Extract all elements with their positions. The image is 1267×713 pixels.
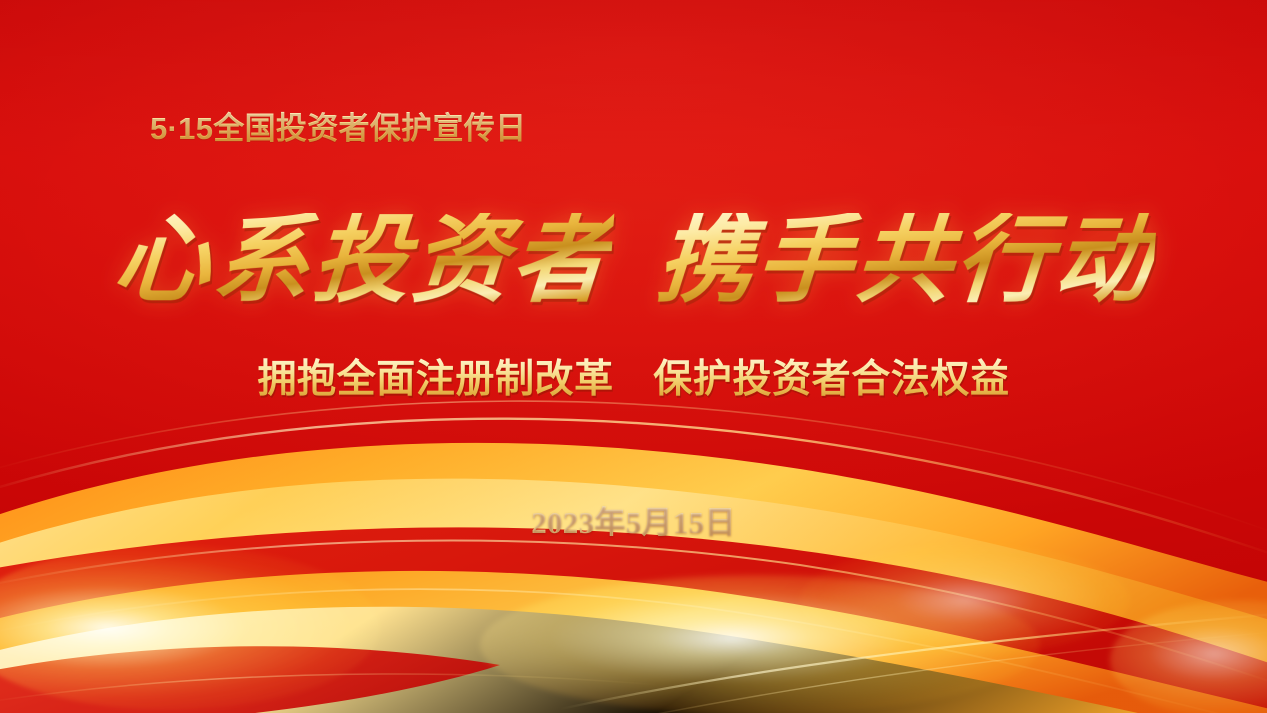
- main-headline: 心系投资者 携手共行动: [0, 196, 1267, 326]
- poster-subtitle: 拥抱全面注册制改革 保护投资者合法权益: [0, 356, 1267, 405]
- investor-protection-poster: 5·15全国投资者保护宣传日 心系投资者 携手共行动 拥抱全面注册制改革 保护投…: [0, 0, 1267, 713]
- headline-part-1: 心系投资者: [110, 213, 614, 309]
- event-eyebrow-title: 5·15全国投资者保护宣传日: [150, 110, 526, 147]
- event-date: 2023年5月15日: [0, 497, 1267, 542]
- ribbon-wave-artwork: [0, 373, 1267, 713]
- headline-part-2: 携手共行动: [653, 213, 1157, 309]
